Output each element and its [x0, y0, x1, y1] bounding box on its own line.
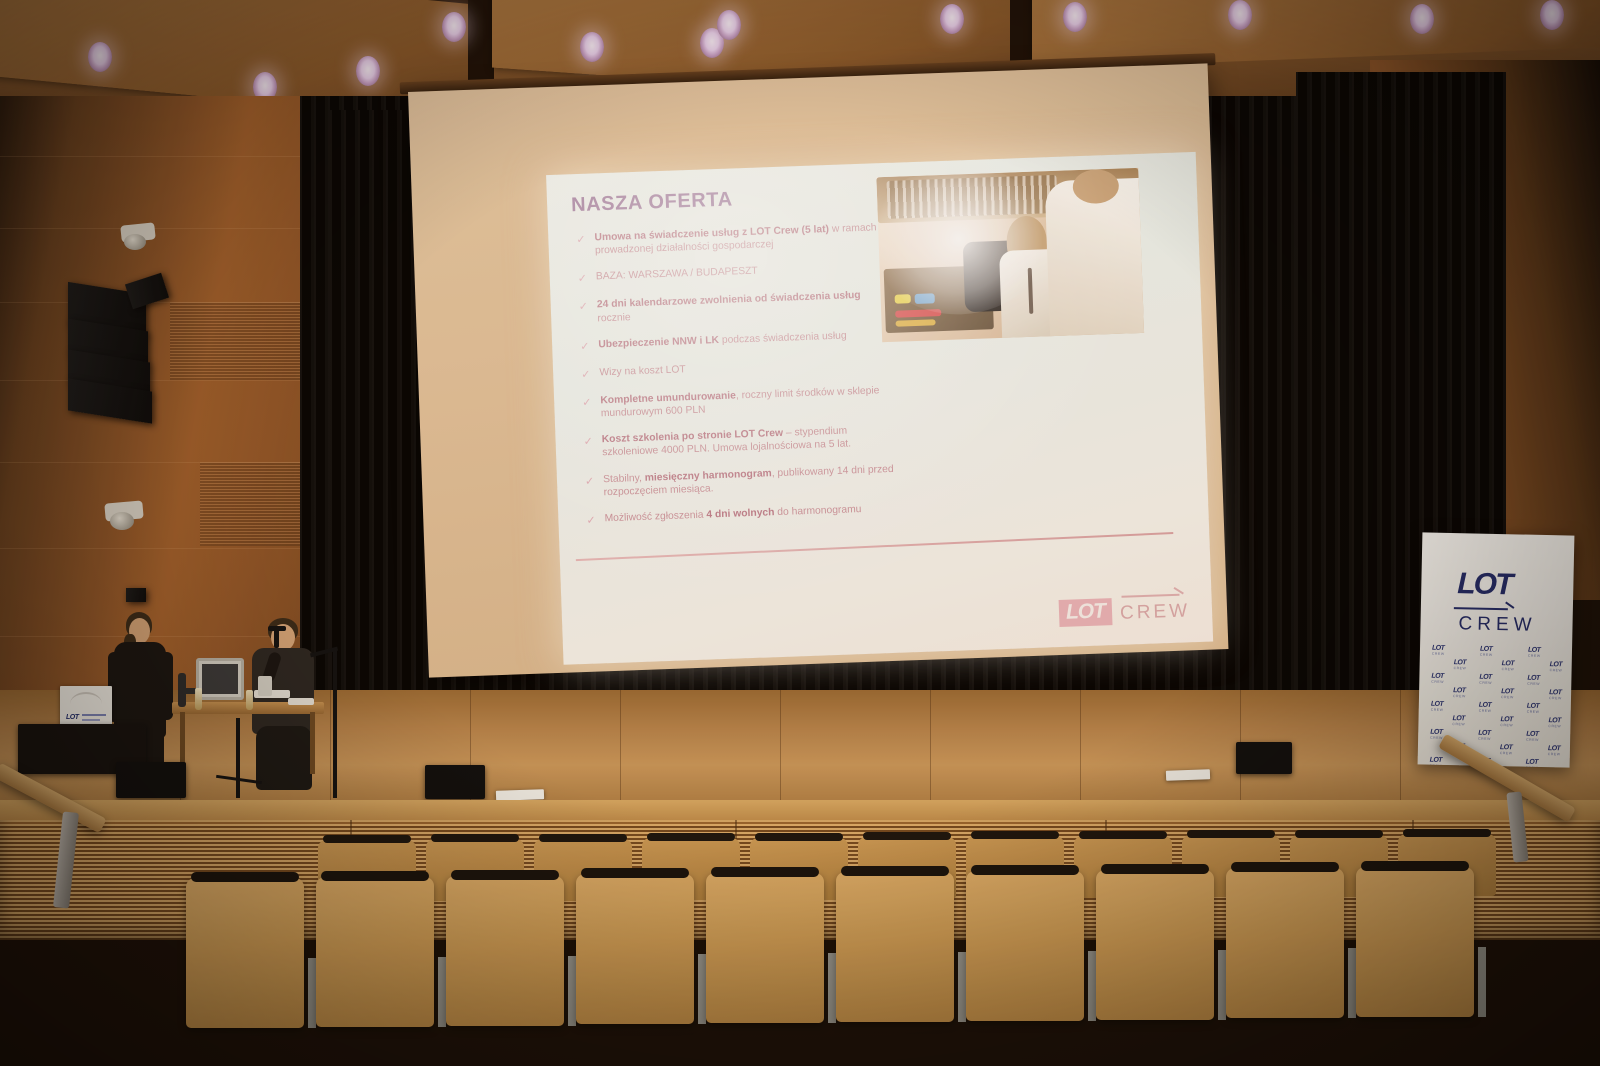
banner-rule [1454, 607, 1508, 610]
banner-tile-sub: CREW [1432, 652, 1445, 656]
audience-seat [1356, 867, 1474, 1017]
slide-title: NASZA OFERTA [571, 188, 733, 217]
slide-bullet-text: BAZA: WARSZAWA / BUDAPESZT [596, 265, 758, 286]
stage-curtain-left [330, 110, 420, 710]
stage-monitor-wedge [425, 765, 485, 799]
seat-leg [1478, 947, 1486, 1017]
slide-bullet-list: ✓Umowa na świadczenie usług z LOT Crew (… [576, 221, 903, 541]
floor-speaker [116, 762, 186, 798]
slide-bullet-text: Stabilny, miesięczny harmonogram, publik… [603, 462, 902, 499]
banner-tile-sub: CREW [1527, 710, 1540, 714]
audience-seat [1096, 870, 1214, 1020]
banner-tile-sub: CREW [1526, 738, 1539, 742]
check-icon: ✓ [579, 299, 589, 326]
banner-crew-word: CREW [1458, 613, 1537, 637]
audience-seat [186, 878, 304, 1028]
audience-seat [836, 872, 954, 1022]
audience-seat [966, 871, 1084, 1021]
ceiling-downlight [356, 56, 380, 86]
check-icon: ✓ [578, 271, 588, 286]
laptop [258, 676, 272, 696]
slide-bullet-item: ✓Kompletne umundurowanie, roczny limit ś… [582, 384, 899, 422]
slide-bullet-item: ✓Ubezpieczenie NNW i LK podczas świadcze… [580, 327, 896, 353]
mic-stand [236, 718, 240, 798]
slide-lot-crew-logo: LOT CREW [1058, 592, 1190, 627]
audience-seat [576, 874, 694, 1024]
slide-bullet-item: ✓Stabilny, miesięczny harmonogram, publi… [585, 462, 902, 500]
banner-tile-sub: CREW [1548, 752, 1561, 756]
banner-tile-sub: CREW [1528, 654, 1541, 658]
mic-stand [333, 648, 337, 798]
wall-outlet-box [126, 588, 146, 602]
slide-bullet-item: ✓Możliwość zgłoszenia 4 dni wolnych do h… [586, 502, 902, 528]
ptz-camera-dome-icon [110, 512, 134, 530]
auditorium-photo: NASZA OFERTA ✓Umowa na świadczenie usług… [0, 0, 1600, 1066]
projection-screen: NASZA OFERTA ✓Umowa na świadczenie usług… [408, 63, 1229, 681]
check-icon: ✓ [581, 367, 591, 382]
audience-seat [1226, 868, 1344, 1018]
banner-tile-sub: CREW [1452, 722, 1465, 726]
check-icon: ✓ [585, 473, 595, 500]
check-icon: ✓ [586, 513, 596, 528]
banner-tile-sub: CREW [1500, 751, 1513, 755]
slide-bullet-text: Ubezpieczenie NNW i LK podczas świadczen… [598, 329, 847, 353]
seat-leg [958, 952, 966, 1022]
audience-seat [446, 876, 564, 1026]
slide-bullet-item: ✓Koszt szkolenia po stronie LOT Crew – s… [583, 423, 900, 461]
ceiling-downlight [442, 12, 466, 42]
audience-seat [706, 873, 824, 1023]
ceiling-downlight [1540, 0, 1564, 30]
ceiling-downlight [940, 4, 964, 34]
check-icon: ✓ [582, 395, 592, 422]
paper-sheet [1166, 769, 1210, 781]
table-leg [310, 712, 315, 774]
presenter-right-glasses [268, 626, 286, 631]
ceiling-downlight [88, 42, 112, 72]
lot-crew-rollup-banner: LOT CREW LOTCREWLOTCREWLOTCREWLOTCREWLOT… [1418, 532, 1575, 767]
water-bottle [195, 688, 202, 710]
ceiling-downlight [1063, 2, 1087, 32]
lot-logo-mark: LOT [1059, 598, 1113, 627]
banner-tile-sub: CREW [1500, 723, 1513, 727]
banner-tile-sub: CREW [1479, 681, 1492, 685]
banner-tile-sub: CREW [1550, 668, 1563, 672]
slide-bullet-text: Umowa na świadczenie usług z LOT Crew (5… [594, 221, 893, 258]
slide-bullet-text: Koszt szkolenia po stronie LOT Crew – st… [602, 423, 901, 460]
banner-tile-sub: CREW [1549, 696, 1562, 700]
handheld-microphone [274, 628, 279, 648]
banner-tile-sub: CREW [1502, 667, 1515, 671]
banner-tile-sub: CREW [1479, 709, 1492, 713]
banner-tile-sub: CREW [1548, 724, 1561, 728]
slide-bullet-item: ✓BAZA: WARSZAWA / BUDAPESZT [578, 260, 894, 286]
banner-tile-sub: CREW [1431, 680, 1444, 684]
seat-leg [828, 953, 836, 1023]
check-icon: ✓ [580, 338, 590, 353]
banner-tile-sub: CREW [1478, 737, 1491, 741]
paper-stack [288, 698, 314, 705]
ceiling-downlight [1228, 0, 1252, 30]
crew-logo-word: CREW [1119, 592, 1190, 624]
presentation-slide: NASZA OFERTA ✓Umowa na świadczenie usług… [546, 152, 1213, 665]
water-bottle [246, 690, 253, 710]
slide-bullet-text: Możliwość zgłoszenia 4 dni wolnych do ha… [604, 503, 861, 527]
seat-leg [568, 956, 576, 1026]
slide-bullet-text: Wizy na koszt LOT [599, 363, 686, 381]
banner-tile-sub: CREW [1454, 666, 1467, 670]
ceiling-downlight [717, 10, 741, 40]
seat-leg [438, 957, 446, 1027]
ptz-camera-dome-icon [124, 234, 146, 250]
stage-monitor-wedge [1236, 742, 1292, 774]
seat-leg [698, 954, 706, 1024]
ceiling-downlight [1410, 4, 1434, 34]
ceiling-downlight [580, 32, 604, 62]
seat-leg [308, 958, 316, 1028]
slide-bullet-item: ✓Wizy na koszt LOT [581, 356, 897, 382]
slide-bullet-item: ✓24 dni kalendarzowe zwolnienia od świad… [579, 288, 896, 326]
audience-seat [316, 877, 434, 1027]
banner-tile-sub: CREW [1480, 653, 1493, 657]
stage-monitor-display [196, 658, 244, 700]
slide-cockpit-photo [876, 168, 1144, 342]
slide-bullet-item: ✓Umowa na świadczenie usług z LOT Crew (… [576, 221, 893, 259]
check-icon: ✓ [576, 232, 586, 259]
seat-leg [1218, 950, 1226, 1020]
check-icon: ✓ [583, 434, 593, 461]
banner-tile-sub: CREW [1453, 694, 1466, 698]
slide-bullet-text: Kompletne umundurowanie, roczny limit śr… [600, 384, 899, 421]
banner-tile-sub: CREW [1501, 695, 1514, 699]
banner-tile-sub: CREW [1527, 682, 1540, 686]
seat-leg [1348, 948, 1356, 1018]
banner-tile-sub: CREW [1431, 708, 1444, 712]
screen-surface: NASZA OFERTA ✓Umowa na świadczenie usług… [408, 63, 1228, 677]
slide-bullet-text: 24 dni kalendarzowe zwolnienia od świadc… [597, 288, 896, 325]
bag-lot-logo: LOT [66, 714, 79, 721]
banner-tile-sub: CREW [1430, 736, 1443, 740]
seat-leg [1088, 951, 1096, 1021]
